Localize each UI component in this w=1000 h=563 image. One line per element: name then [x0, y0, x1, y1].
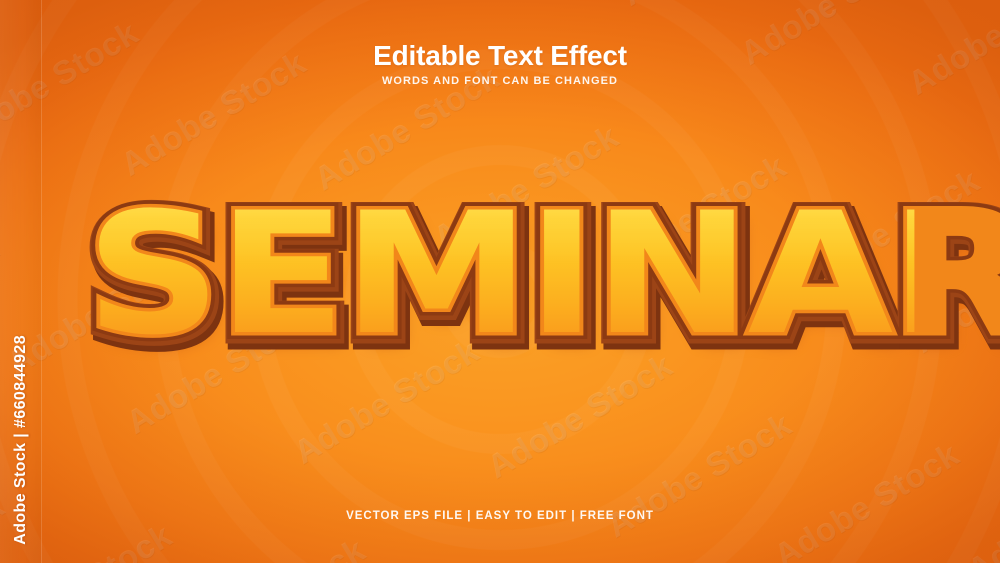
word-layer-stack: SEMINAR SEMINAR SEMINAR SEMINAR SEMINAR … — [130, 159, 870, 389]
footer-block: VECTOR EPS FILE | EASY TO EDIT | FREE FO… — [0, 510, 1000, 522]
credit-label: Adobe Stock | #660844928 — [12, 335, 30, 545]
stock-image-canvas: Adobe Stock Adobe Stock Adobe Stock Adob… — [0, 0, 1000, 563]
header-block: Editable Text Effect WORDS AND FONT CAN … — [0, 41, 1000, 87]
page-subtitle: WORDS AND FONT CAN BE CHANGED — [0, 75, 1000, 87]
word-highlight-layer: SEMINAR — [86, 159, 915, 389]
page-title: Editable Text Effect — [0, 41, 1000, 70]
adobe-stock-credit-bar: Adobe Stock | #660844928 — [0, 0, 42, 563]
footer-caption: VECTOR EPS FILE | EASY TO EDIT | FREE FO… — [0, 510, 1000, 522]
